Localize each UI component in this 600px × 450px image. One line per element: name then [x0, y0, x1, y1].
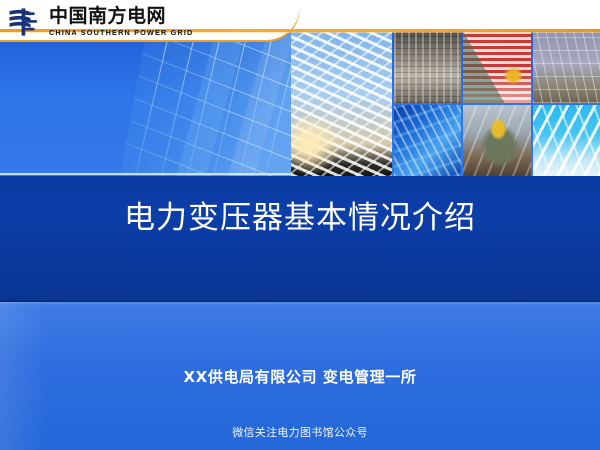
- photo-ice-covered-transmission-line: [533, 105, 600, 177]
- photo-blue-technology-abstract: [394, 105, 461, 177]
- photo-collage: [291, 31, 600, 176]
- photo-transmission-tower-at-sunset: [291, 31, 392, 176]
- power-grid-logo-mark-icon: [9, 8, 43, 36]
- photo-grid: [394, 31, 600, 176]
- diagonal-mesh-decoration: [120, 31, 295, 176]
- photo-outdoor-switchyard-gantry: [533, 31, 600, 103]
- logo-english-name: CHINA SOUTHERN POWER GRID: [49, 29, 193, 36]
- photo-substation-transformer-equipment: [394, 31, 461, 103]
- logo-wordmark: 中国南方电网 CHINA SOUTHERN POWER GRID: [49, 7, 193, 36]
- logo-chinese-name: 中国南方电网: [49, 7, 193, 26]
- slide-subtitle: XX供电局有限公司 变电管理一所: [0, 366, 600, 387]
- title-slide: 中国南方电网 CHINA SOUTHERN POWER GRID 电力变压器基本…: [0, 0, 600, 450]
- slide-footer-note: 微信关注电力图书馆公众号: [0, 424, 600, 440]
- photo-live-line-work-with-red-insulators: [463, 31, 530, 103]
- brand-logo: 中国南方电网 CHINA SOUTHERN POWER GRID: [9, 7, 193, 36]
- photo-worker-in-yellow-helmet: [463, 105, 530, 177]
- mesh-svg: [120, 31, 295, 176]
- collage-underline-rule: [0, 173, 291, 175]
- slide-title: 电力变压器基本情况介绍: [0, 192, 600, 237]
